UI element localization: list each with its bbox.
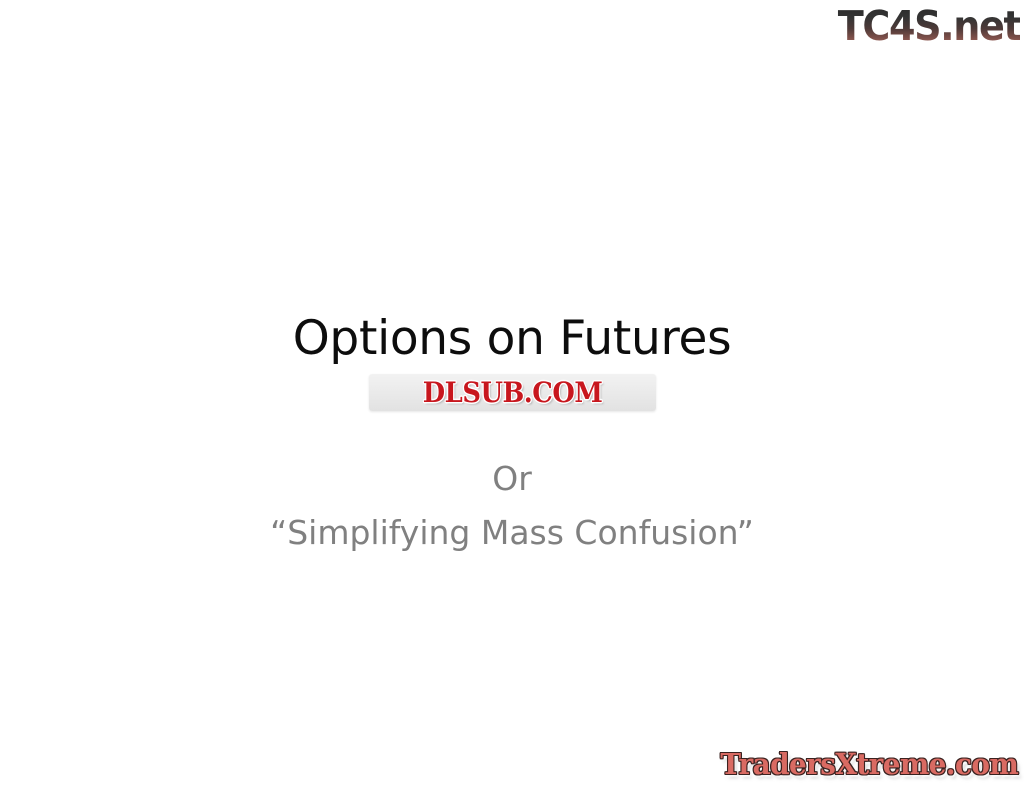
presentation-slide: TC4S.net Options on Futures DLSUB.COM Or… [0,0,1024,791]
slide-subtitle: Or “Simplifying Mass Confusion” [0,452,1024,560]
slide-content: Options on Futures DLSUB.COM Or “Simplif… [0,0,1024,791]
tradersxtreme-watermark: TradersXtreme.com [706,742,1018,786]
slide-title: Options on Futures [0,310,1024,368]
tradersxtreme-watermark-text: TradersXtreme.com [720,750,1018,779]
dlsub-watermark-text: DLSUB.COM [423,379,603,407]
slide-subtitle-line-1: Or [0,452,1024,506]
slide-subtitle-line-2: “Simplifying Mass Confusion” [0,506,1024,560]
dlsub-watermark: DLSUB.COM [369,374,656,411]
